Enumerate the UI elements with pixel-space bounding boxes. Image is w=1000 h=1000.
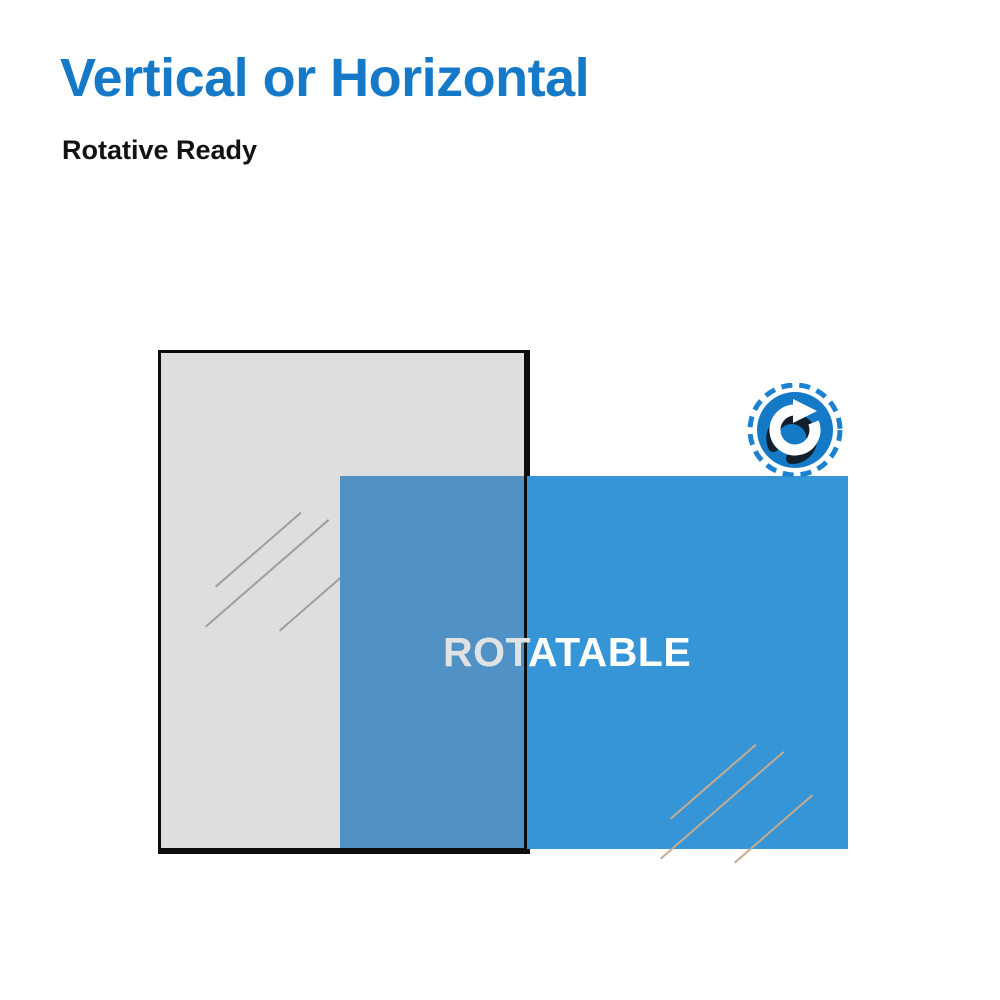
poster-canvas: Vertical or Horizontal Rotative Ready RO… bbox=[0, 0, 1000, 1000]
rotate-clockwise-icon bbox=[745, 383, 845, 477]
rotatable-caption: ROTATABLE bbox=[443, 632, 691, 673]
rotatable-caption-dim: ROT bbox=[443, 629, 528, 675]
rotatable-caption-bright: ATABLE bbox=[528, 629, 691, 675]
page-title: Vertical or Horizontal bbox=[60, 50, 589, 107]
vertical-panel-right-edge bbox=[524, 350, 527, 851]
vertical-panel-bottom-edge bbox=[158, 848, 527, 851]
page-subtitle: Rotative Ready bbox=[62, 136, 257, 166]
